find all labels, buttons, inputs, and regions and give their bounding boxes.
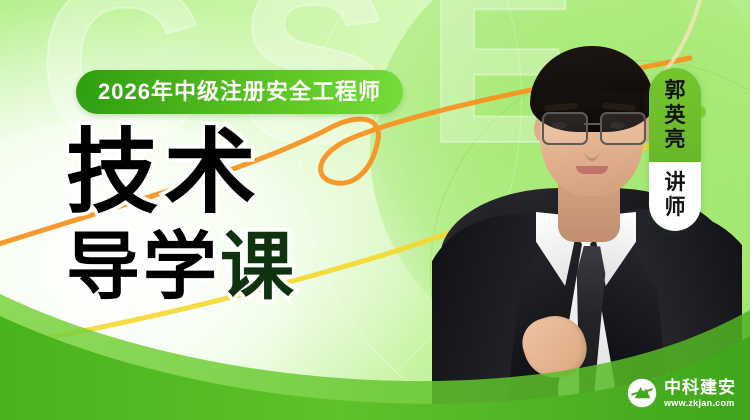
instructor-role-block: 讲 师 (649, 162, 701, 231)
brand-name: 中科建安 (664, 379, 736, 396)
title-line-1: 技术 (66, 126, 366, 222)
instructor-badge: 郭 英 亮 讲 师 (649, 68, 701, 231)
brand-text: 中科建安 www.zkjan.com (664, 379, 736, 408)
mountain-logo-icon (627, 378, 657, 408)
title-line-2-main: 导学 (66, 225, 220, 308)
brand-logo[interactable]: 中科建安 www.zkjan.com (627, 378, 736, 408)
title-line-2-tail: 课 (220, 225, 297, 308)
brand-url: www.zkjan.com (664, 399, 736, 408)
instructor-role-char-2: 师 (665, 197, 686, 220)
instructor-name-char-1: 郭 (665, 80, 686, 103)
instructor-name-block: 郭 英 亮 (649, 68, 701, 162)
photo-nose (584, 138, 600, 161)
photo-glasses-lens-left (542, 112, 588, 145)
course-poster: CSE CSE (0, 0, 750, 420)
course-badge: 2026年中级注册安全工程师 (76, 70, 403, 114)
photo-glasses-bridge (584, 123, 600, 125)
course-badge-label: 2026年中级注册安全工程师 (98, 81, 381, 103)
photo-mouth (576, 166, 608, 174)
title-line-2: 导学课 (66, 228, 366, 306)
page-title: 技术 导学课 (66, 126, 366, 306)
instructor-name-char-2: 英 (665, 105, 686, 128)
photo-glasses-lens-right (600, 112, 646, 145)
instructor-role-char-1: 讲 (665, 172, 686, 195)
instructor-name-char-3: 亮 (665, 129, 686, 152)
